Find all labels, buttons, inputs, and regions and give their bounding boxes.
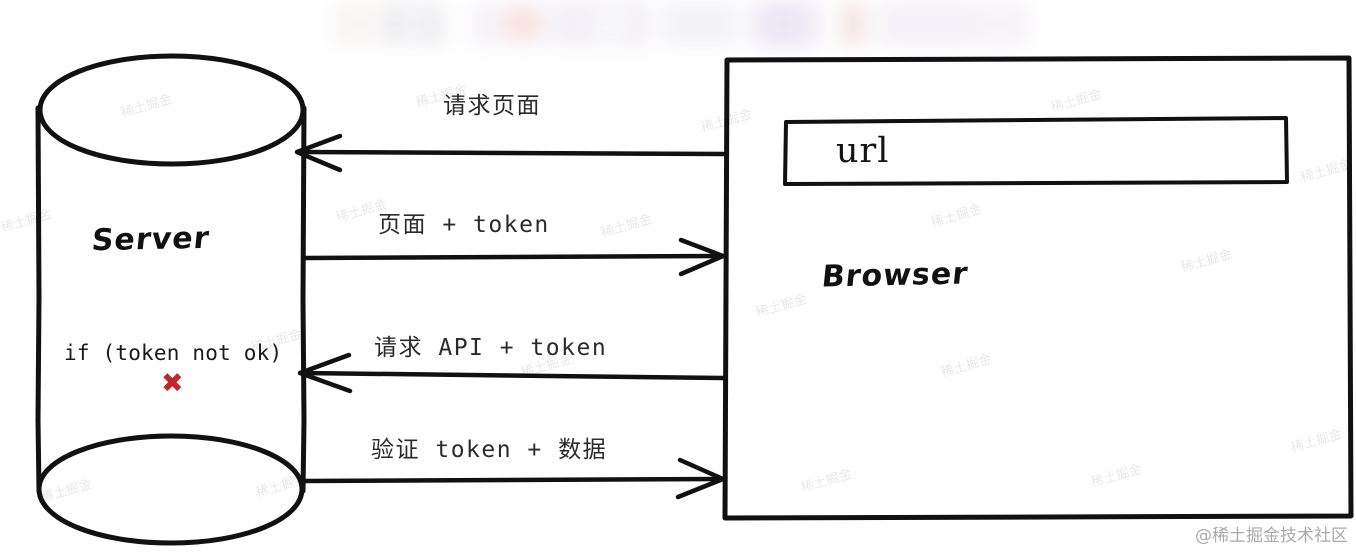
cylinder-left-wall xyxy=(38,108,39,491)
arrow-shaft xyxy=(304,479,722,481)
server-cylinder xyxy=(38,56,304,543)
url-box-label: url xyxy=(836,131,889,171)
cylinder-bottom-ellipse xyxy=(39,436,302,543)
arrow-label-request-page: 请求页面 xyxy=(443,86,541,120)
arrow-request-page xyxy=(297,136,723,170)
arrow-shaft xyxy=(303,373,723,378)
arrow-label-page-plus-token: 页面 + token xyxy=(378,205,550,239)
server-node-label: Server xyxy=(90,221,211,258)
arrow-label-request-api-token: 请求 API + token xyxy=(374,328,607,362)
cross-icon: ✖ xyxy=(161,370,184,397)
browser-node-label: Browser xyxy=(820,256,970,294)
diagram-canvas: 稀土掘金 稀土掘金 稀土掘金 稀土掘金 稀土掘金 稀土掘金 稀土掘金 稀土掘金 … xyxy=(0,0,1356,552)
cylinder-right-wall xyxy=(303,108,304,491)
server-condition-text: if (token not ok) xyxy=(64,341,282,365)
arrow-shaft xyxy=(300,152,723,154)
arrow-label-verify-token-data: 验证 token + 数据 xyxy=(371,430,607,464)
arrow-shaft xyxy=(306,256,722,258)
diagram-strokes xyxy=(0,0,1356,552)
cylinder-top-ellipse xyxy=(40,56,303,164)
arrow-verify-token-data xyxy=(304,460,723,497)
browser-rectangle xyxy=(725,58,1351,518)
arrow-page-plus-token xyxy=(306,240,723,274)
